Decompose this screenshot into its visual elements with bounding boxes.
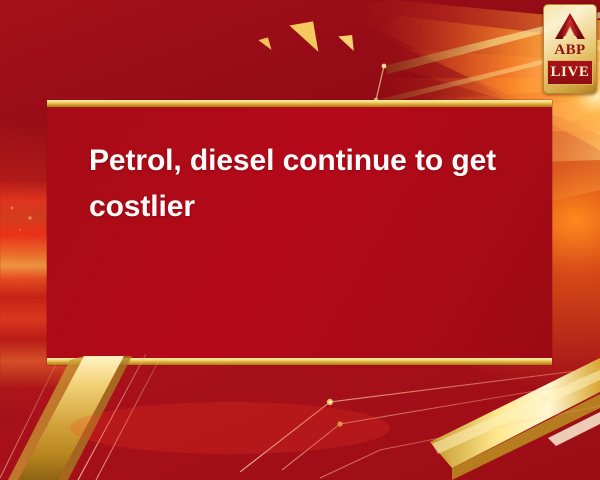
- gold-divider-top: [47, 100, 552, 107]
- logo-live-banner: LIVE: [547, 60, 593, 85]
- abp-live-logo[interactable]: ABP LIVE: [543, 4, 597, 94]
- triangle-small-right-icon: [333, 35, 354, 53]
- page-title: Petrol, diesel continue to get costlier: [89, 138, 509, 230]
- logo-live-text: LIVE: [550, 64, 589, 81]
- triangle-large-center-icon: [281, 21, 319, 57]
- up-chevron-arrow-icon: [554, 12, 586, 42]
- logo-brand-text: ABP: [544, 42, 596, 59]
- news-graphic-card: Petrol, diesel continue to get costlier …: [0, 0, 600, 480]
- gold-chevron-bands: [0, 350, 600, 480]
